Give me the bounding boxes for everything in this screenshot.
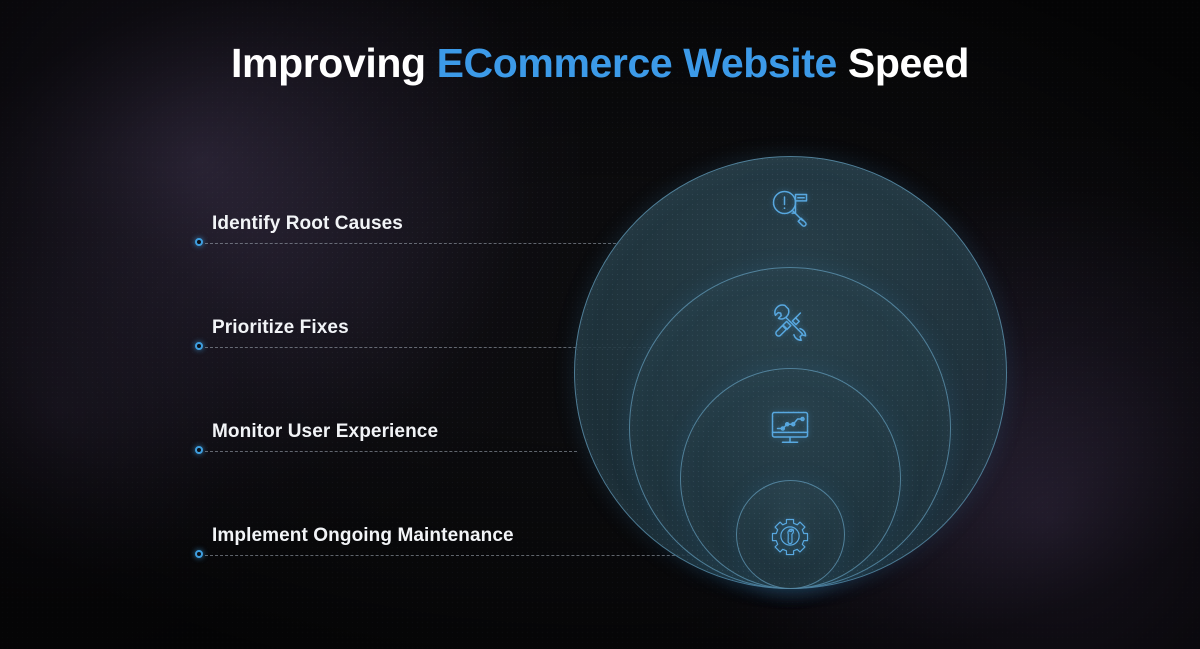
monitor-chart-icon <box>764 401 816 453</box>
step-3-leader-line <box>205 451 577 452</box>
gear-wrench-icon <box>769 515 811 557</box>
infographic-canvas: Improving ECommerce Website Speed <box>0 0 1200 649</box>
step-3-label: Monitor User Experience <box>212 421 438 443</box>
step-2-marker-dot <box>195 342 203 350</box>
step-4-marker-dot <box>195 550 203 558</box>
step-1-label: Identify Root Causes <box>212 213 403 235</box>
step-1-marker-dot <box>195 238 203 246</box>
wrench-screwdriver-icon <box>764 295 816 347</box>
step-3-marker-dot <box>195 446 203 454</box>
icon-monitor-chart-wrap <box>764 401 816 453</box>
icon-magnifier-alert-wrap <box>764 183 816 235</box>
step-4-leader-line <box>205 555 735 556</box>
step-2-label: Prioritize Fixes <box>212 317 349 339</box>
icon-gear-wrench-wrap <box>769 515 811 557</box>
icon-wrench-screwdriver-wrap <box>764 295 816 347</box>
step-4-label: Implement Ongoing Maintenance <box>212 525 514 547</box>
magnifier-alert-icon <box>764 183 816 235</box>
step-1-leader-line <box>205 243 621 244</box>
